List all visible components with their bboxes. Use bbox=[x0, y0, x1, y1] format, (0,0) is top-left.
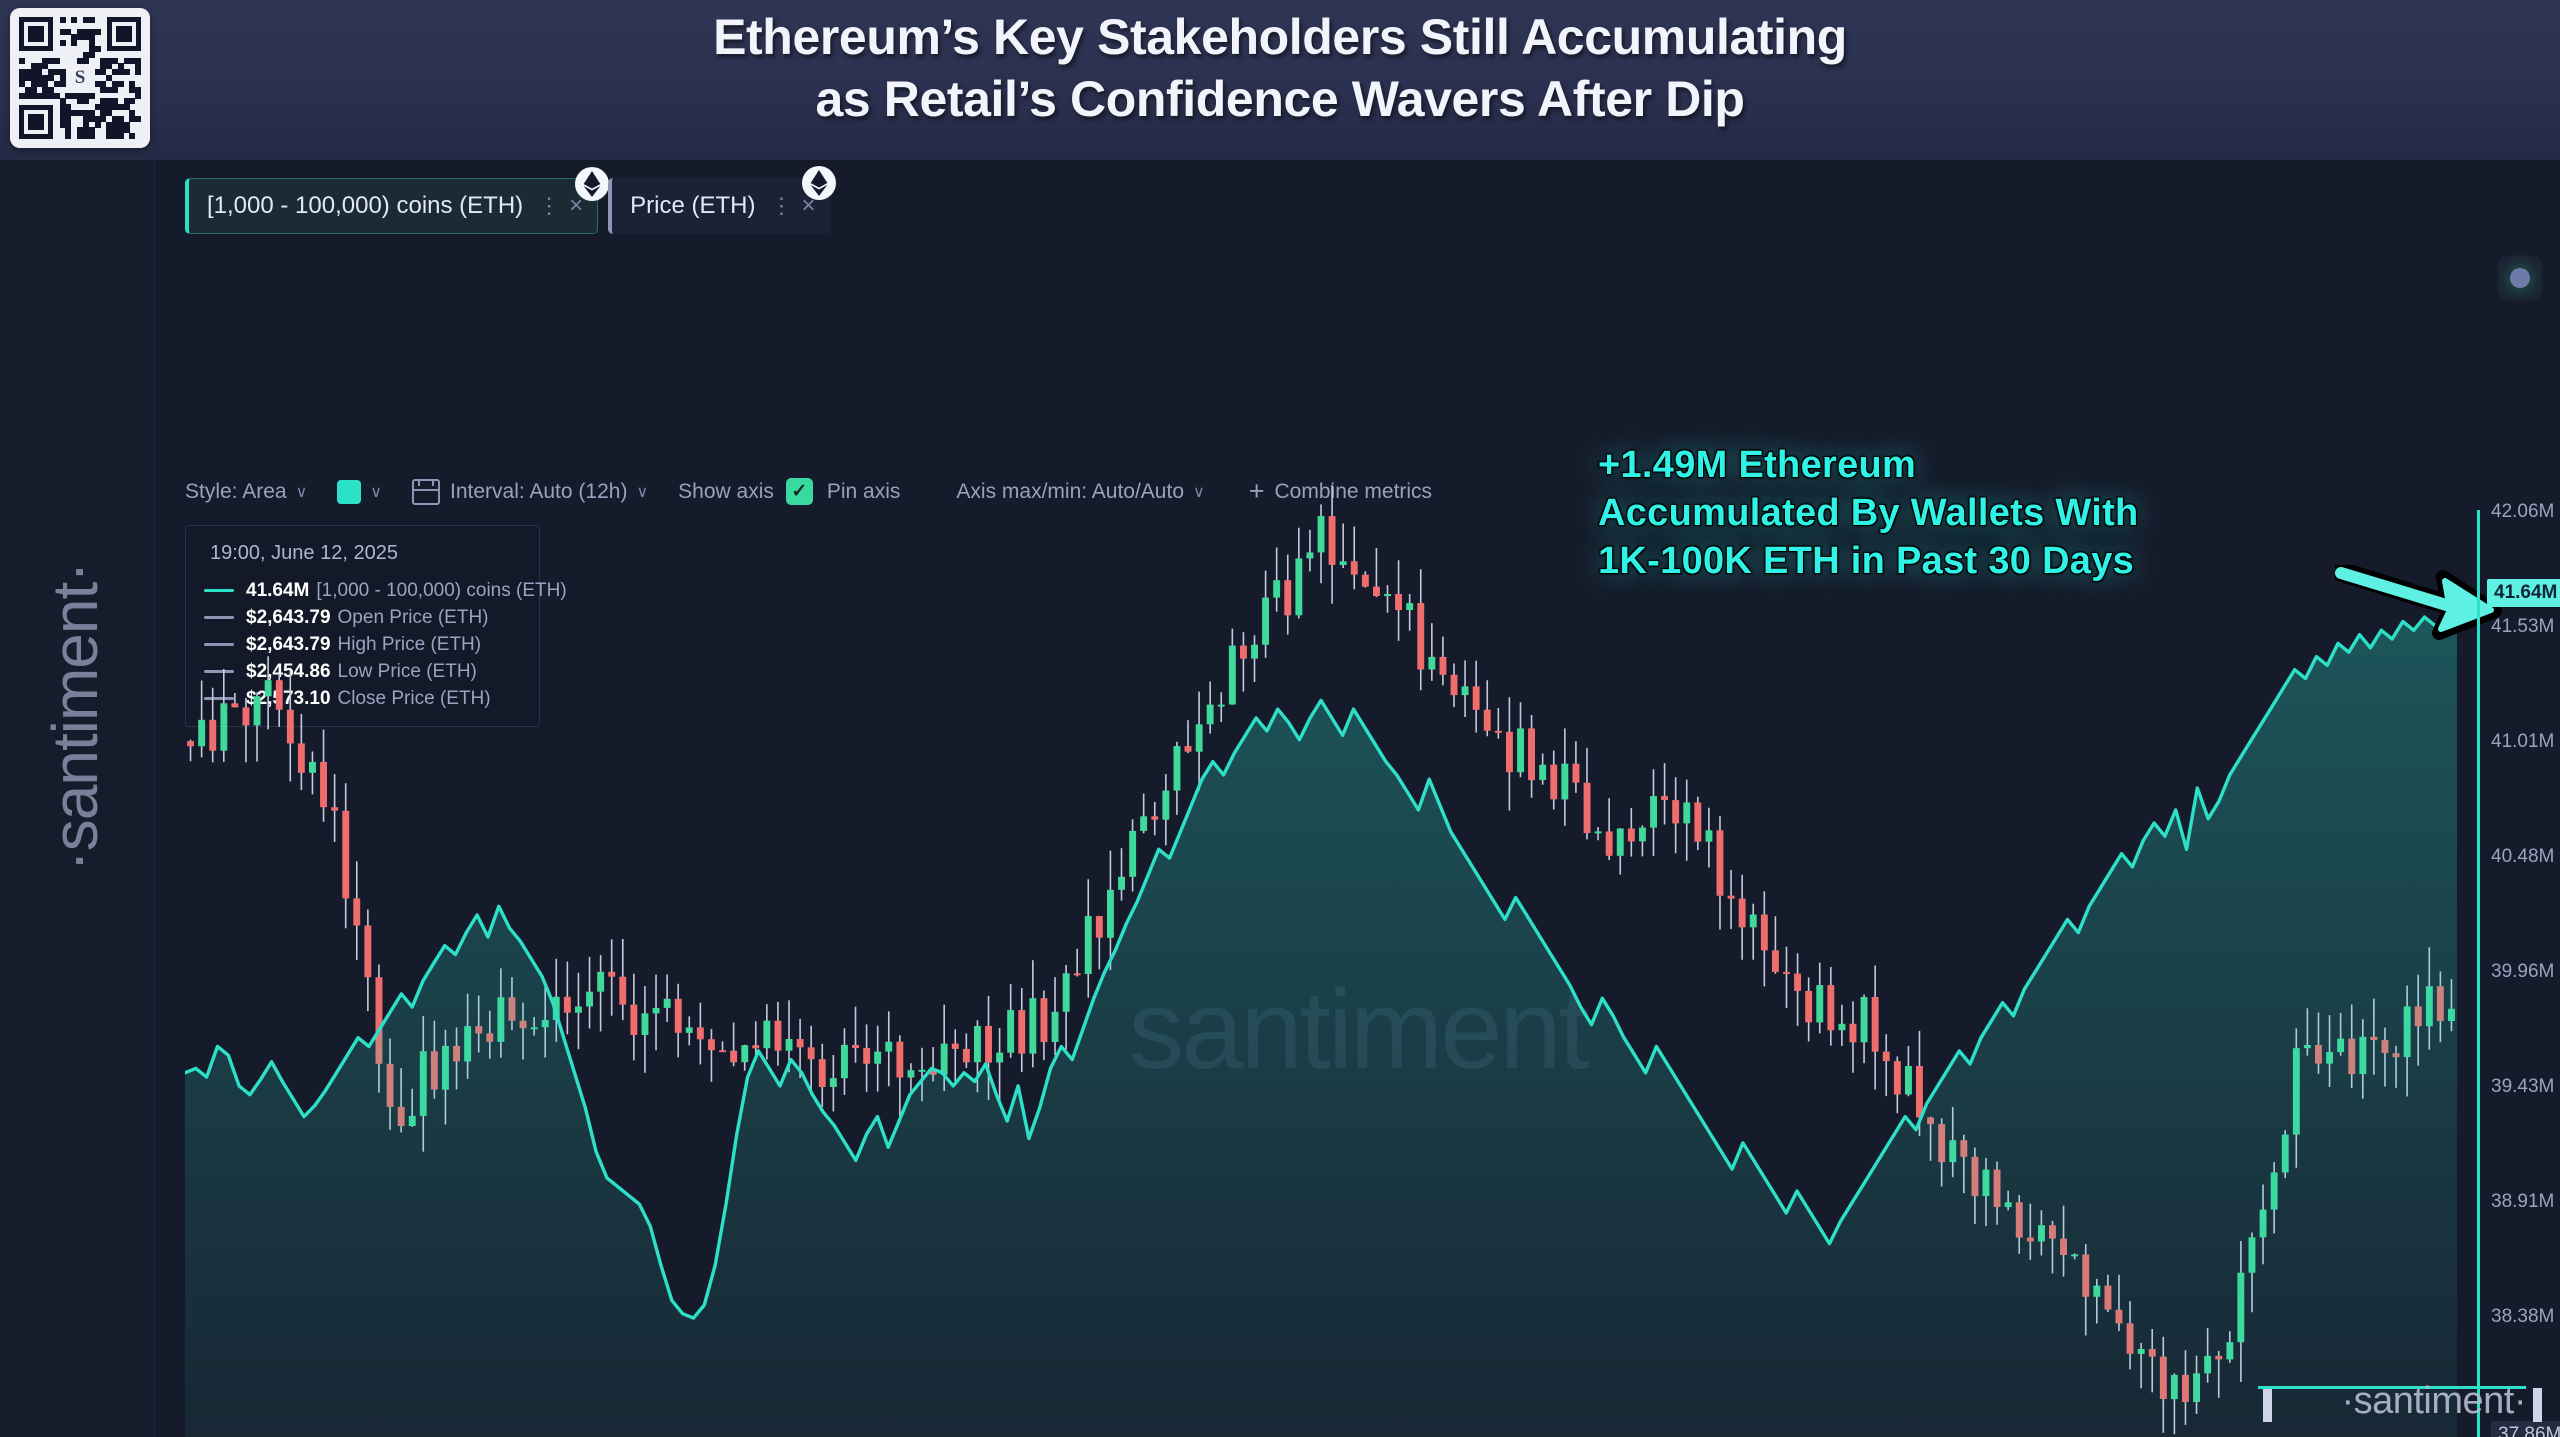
candle-body bbox=[1506, 732, 1513, 772]
qr-module bbox=[129, 98, 135, 104]
candle-body bbox=[1750, 915, 1757, 928]
qr-module bbox=[95, 122, 101, 128]
candle-body bbox=[1329, 516, 1336, 565]
candle-body bbox=[1561, 764, 1568, 800]
candle-body bbox=[1816, 985, 1823, 1022]
qr-module bbox=[118, 133, 124, 139]
qr-finder-tr bbox=[107, 17, 141, 51]
qr-module bbox=[95, 46, 101, 52]
candle-body bbox=[741, 1045, 748, 1062]
candle-body bbox=[1351, 561, 1358, 574]
candle-body bbox=[1041, 998, 1048, 1042]
candle-body bbox=[675, 999, 682, 1033]
candle-body bbox=[1528, 728, 1535, 780]
candle-body bbox=[1107, 890, 1114, 938]
candle-body bbox=[1185, 746, 1192, 752]
candle-body bbox=[342, 811, 349, 899]
candle-body bbox=[830, 1078, 837, 1087]
annotation-line-1: +1.49M Ethereum bbox=[1598, 441, 2139, 489]
candle-body bbox=[198, 720, 205, 746]
candle-body bbox=[1694, 803, 1701, 842]
candle-body bbox=[597, 972, 604, 992]
candle-body bbox=[1706, 830, 1713, 841]
qr-module bbox=[83, 98, 89, 104]
candle-body bbox=[1162, 791, 1169, 820]
candle-body bbox=[1373, 587, 1380, 596]
candle-body bbox=[1916, 1066, 1923, 1117]
brand-bar-left bbox=[2263, 1388, 2272, 1422]
chart-panel: [1,000 - 100,000) coins (ETH) ⋮ × Price … bbox=[155, 160, 2560, 1437]
candle-body bbox=[1428, 657, 1435, 670]
candle-body bbox=[1251, 645, 1258, 659]
candle-body bbox=[1584, 783, 1591, 833]
qr-module bbox=[129, 133, 135, 139]
candle-body bbox=[1683, 803, 1690, 824]
candle-body bbox=[1850, 1024, 1857, 1043]
candle-body bbox=[1262, 598, 1269, 645]
candle-body bbox=[1827, 985, 1834, 1030]
candle-body bbox=[1794, 974, 1801, 991]
candle-body bbox=[1539, 765, 1546, 780]
left-axis-tick: 39.43M bbox=[2491, 1076, 2554, 1098]
candle-body bbox=[708, 1039, 715, 1050]
candle-body bbox=[1883, 1052, 1890, 1062]
metric-chip-holders-label: [1,000 - 100,000) coins (ETH) bbox=[207, 192, 523, 220]
candle-body bbox=[1573, 764, 1580, 783]
candle-body bbox=[1362, 575, 1369, 587]
qr-module bbox=[19, 58, 25, 64]
candle-body bbox=[309, 762, 316, 773]
candle-body bbox=[231, 703, 238, 707]
candle-body bbox=[1229, 646, 1236, 705]
candle-body bbox=[1761, 915, 1768, 951]
candle-body bbox=[1295, 559, 1302, 616]
qr-module bbox=[112, 87, 118, 93]
qr-module bbox=[60, 40, 66, 46]
candle-body bbox=[653, 1008, 660, 1013]
eth-icon bbox=[802, 166, 836, 200]
candle-body bbox=[1085, 916, 1092, 974]
candle-body bbox=[1905, 1066, 1912, 1095]
candle-body bbox=[1661, 796, 1668, 800]
candle-body bbox=[187, 741, 194, 746]
candle-body bbox=[1129, 831, 1136, 877]
left-axis-tick: 37.86M bbox=[2491, 1421, 2560, 1437]
qr-module bbox=[135, 116, 141, 122]
qr-module bbox=[65, 133, 71, 139]
candle-body bbox=[619, 977, 626, 1005]
candle-body bbox=[1273, 580, 1280, 597]
candle-body bbox=[775, 1021, 782, 1051]
candle-body bbox=[298, 743, 305, 772]
candle-body bbox=[209, 720, 216, 751]
qr-finder-tl bbox=[19, 17, 53, 51]
left-axis-tick: 39.96M bbox=[2491, 961, 2554, 983]
status-indicator[interactable] bbox=[2498, 256, 2542, 300]
candle-body bbox=[1728, 896, 1735, 899]
candle-body bbox=[1440, 657, 1447, 675]
candle-body bbox=[697, 1027, 704, 1039]
candle-body bbox=[919, 1070, 926, 1072]
candle-body bbox=[1118, 877, 1125, 890]
candle-body bbox=[664, 999, 671, 1008]
candle-body bbox=[797, 1039, 804, 1047]
candle-body bbox=[863, 1048, 870, 1064]
page-title: Ethereum’s Key Stakeholders Still Accumu… bbox=[0, 6, 2560, 130]
eth-icon bbox=[575, 167, 609, 201]
candle-body bbox=[1063, 973, 1070, 1012]
candle-body bbox=[985, 1026, 992, 1063]
bottom-logo: ·santiment· bbox=[2341, 1380, 2526, 1423]
candle-body bbox=[1018, 1010, 1025, 1054]
candle-body bbox=[1495, 731, 1502, 733]
left-metric-axis[interactable]: 42.06M41.53M41.01M40.48M39.96M39.43M38.9… bbox=[2477, 340, 2560, 1437]
qr-module bbox=[60, 81, 66, 87]
candle-body bbox=[1218, 705, 1225, 707]
candle-body bbox=[608, 972, 615, 977]
candle-body bbox=[276, 680, 283, 710]
candle-body bbox=[1284, 580, 1291, 615]
qr-module bbox=[89, 17, 95, 23]
candle-body bbox=[1074, 973, 1081, 975]
left-axis-tick: 41.53M bbox=[2491, 616, 2554, 638]
candle-body bbox=[1717, 830, 1724, 895]
candle-body bbox=[353, 898, 360, 925]
left-axis-tick: 40.48M bbox=[2491, 846, 2554, 868]
candle-body bbox=[952, 1044, 959, 1049]
metric-chip-price-menu-icon[interactable]: ⋮ bbox=[770, 199, 794, 213]
status-dot-icon bbox=[2510, 268, 2530, 288]
candle-body bbox=[220, 703, 227, 750]
qr-module bbox=[135, 69, 141, 75]
left-rail: ·santiment· bbox=[0, 160, 155, 1437]
candle-body bbox=[243, 707, 250, 725]
candle-body bbox=[1672, 800, 1679, 823]
candle-body bbox=[763, 1021, 770, 1048]
candle-body bbox=[1639, 828, 1646, 842]
candle-body bbox=[1595, 831, 1602, 833]
candle-body bbox=[1052, 1012, 1059, 1042]
qr-finder-bl bbox=[19, 105, 53, 139]
candle-body bbox=[996, 1053, 1003, 1063]
candle-body bbox=[1805, 991, 1812, 1022]
candle-body bbox=[1451, 675, 1458, 695]
qr-module bbox=[89, 133, 95, 139]
qr-module bbox=[71, 40, 77, 46]
candle-body bbox=[1783, 972, 1790, 974]
candle-body bbox=[1550, 765, 1557, 800]
metric-chip-bar: [1,000 - 100,000) coins (ETH) ⋮ × Price … bbox=[185, 178, 840, 234]
candle-body bbox=[1617, 829, 1624, 856]
candle-body bbox=[1384, 594, 1391, 596]
candle-body bbox=[331, 807, 338, 811]
annotation-line-3: 1K-100K ETH in Past 30 Days bbox=[1598, 537, 2139, 585]
candle-body bbox=[1096, 916, 1103, 938]
candle-body bbox=[908, 1070, 915, 1077]
candle-body bbox=[786, 1039, 793, 1051]
candle-body bbox=[752, 1045, 759, 1048]
candle-body bbox=[1007, 1010, 1014, 1053]
candle-body bbox=[1207, 705, 1214, 725]
candle-body bbox=[1140, 816, 1147, 831]
candle-body bbox=[586, 992, 593, 1007]
candle-body bbox=[1196, 724, 1203, 751]
metric-chip-holders[interactable]: [1,000 - 100,000) coins (ETH) ⋮ × bbox=[185, 178, 598, 234]
candle-body bbox=[1628, 829, 1635, 842]
left-watermark: ·santiment· bbox=[38, 437, 112, 997]
candle-body bbox=[364, 926, 371, 978]
candle-body bbox=[287, 710, 294, 744]
left-axis-current-value: 41.64M bbox=[2487, 579, 2560, 607]
qr-module bbox=[135, 93, 141, 99]
qr-module bbox=[54, 58, 60, 64]
candle-body bbox=[1606, 831, 1613, 855]
candle-body bbox=[575, 1007, 582, 1013]
candle-body bbox=[1417, 603, 1424, 669]
candle-body bbox=[1462, 686, 1469, 695]
candle-body bbox=[1174, 746, 1181, 791]
candle-body bbox=[941, 1044, 948, 1075]
annotation-line-2: Accumulated By Wallets With bbox=[1598, 489, 2139, 537]
qr-module bbox=[118, 81, 124, 87]
candle-body bbox=[1772, 950, 1779, 972]
candle-body bbox=[1395, 594, 1402, 610]
candle-body bbox=[1307, 552, 1314, 558]
qr-module bbox=[124, 69, 130, 75]
candle-body bbox=[1894, 1061, 1901, 1094]
qr-module bbox=[71, 17, 77, 23]
candle-body bbox=[1318, 516, 1325, 552]
candle-body bbox=[630, 1005, 637, 1035]
left-axis-tick: 42.06M bbox=[2491, 501, 2554, 523]
metric-chip-price[interactable]: Price (ETH) ⋮ × bbox=[608, 178, 829, 234]
candle-body bbox=[1484, 710, 1491, 731]
candle-body bbox=[730, 1051, 737, 1063]
metric-chip-price-label: Price (ETH) bbox=[630, 192, 755, 220]
candle-body bbox=[1240, 646, 1247, 659]
candle-body bbox=[852, 1045, 859, 1048]
title-line-2: as Retail’s Confidence Wavers After Dip bbox=[0, 68, 2560, 130]
annotation-text: +1.49M Ethereum Accumulated By Wallets W… bbox=[1598, 441, 2139, 585]
candle-body bbox=[819, 1059, 826, 1087]
qr-module bbox=[95, 29, 101, 35]
candle-body bbox=[1340, 561, 1347, 565]
candle-body bbox=[1406, 603, 1413, 610]
candle-body bbox=[808, 1047, 815, 1059]
candle-body bbox=[254, 696, 261, 725]
candle-body bbox=[896, 1042, 903, 1078]
left-axis-tick: 38.91M bbox=[2491, 1191, 2554, 1213]
candle-body bbox=[1029, 998, 1036, 1053]
candle-body bbox=[1872, 997, 1879, 1052]
candle-body bbox=[1650, 796, 1657, 828]
qr-module bbox=[60, 17, 66, 23]
candle-body bbox=[1151, 816, 1158, 819]
qr-module bbox=[89, 93, 95, 99]
candle-body bbox=[564, 997, 571, 1013]
candle-body bbox=[1839, 1024, 1846, 1030]
qr-code[interactable]: S bbox=[10, 8, 150, 148]
candle-body bbox=[686, 1027, 693, 1033]
title-line-1: Ethereum’s Key Stakeholders Still Accumu… bbox=[0, 6, 2560, 68]
metric-chip-holders-menu-icon[interactable]: ⋮ bbox=[537, 199, 561, 213]
candle-body bbox=[1739, 899, 1746, 928]
qr-module bbox=[83, 58, 89, 64]
left-axis-tick: 41.01M bbox=[2491, 731, 2554, 753]
candle-body bbox=[719, 1050, 726, 1052]
candle-body bbox=[1473, 686, 1480, 709]
candle-body bbox=[885, 1042, 892, 1052]
candle-body bbox=[963, 1049, 970, 1062]
candle-body bbox=[874, 1052, 881, 1064]
candle-body bbox=[1517, 728, 1524, 772]
candle-body bbox=[1861, 997, 1868, 1042]
qr-module bbox=[89, 52, 95, 58]
candle-body bbox=[974, 1026, 981, 1062]
candle-body bbox=[642, 1013, 649, 1035]
brand-bar-right bbox=[2533, 1388, 2542, 1422]
axis-accent-line bbox=[2477, 510, 2480, 1437]
left-axis-tick: 38.38M bbox=[2491, 1306, 2554, 1328]
holders-area-fill bbox=[185, 604, 2457, 1437]
candle-body bbox=[841, 1045, 848, 1078]
candle-body bbox=[320, 762, 327, 807]
candle-body bbox=[265, 680, 272, 696]
